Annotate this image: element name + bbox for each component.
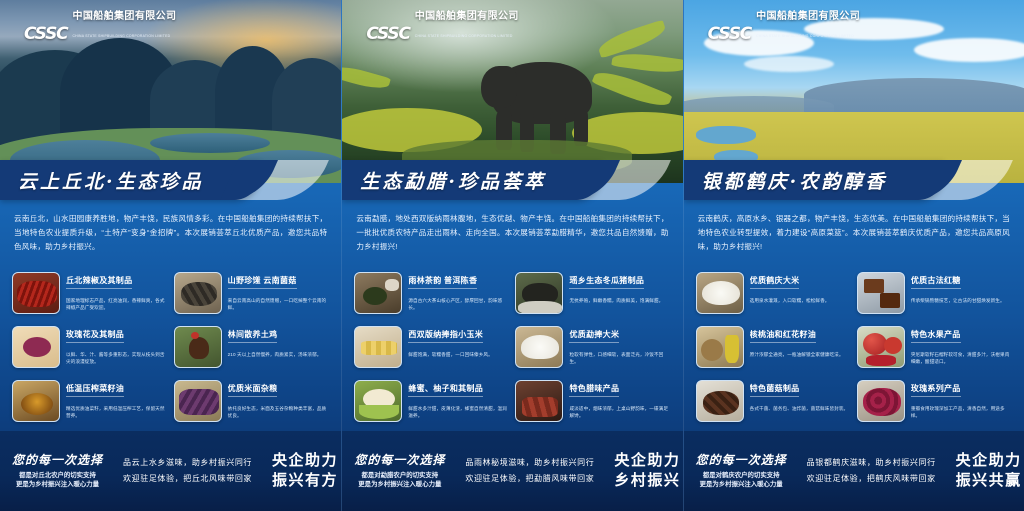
cssc-name-cn: 中国船舶集团有限公司 bbox=[415, 11, 519, 22]
product-card[interactable]: 玫瑰系列产品 重瓣食用玫瑰深加工产品，清香自然，用途多样。 bbox=[857, 380, 1012, 432]
product-card[interactable]: 林间散养土鸡 210 天以上自然慢养，肉质紧实，汤味浓郁。 bbox=[174, 326, 330, 378]
product-card[interactable]: 西双版纳捧指小玉米 鲜甜饱满，软糯香甜，一口回味傣乡风。 bbox=[354, 326, 509, 378]
walnut-oil-image bbox=[696, 326, 744, 368]
product-title: 优质勐捧大米 bbox=[569, 329, 619, 343]
cssc-name-cn: 中国船舶集团有限公司 bbox=[756, 11, 860, 22]
product-title: 瑶乡生态冬瓜猪制品 bbox=[569, 275, 644, 289]
product-desc: 鲜甜水多汁甜，皮薄化渣，蜂蜜自然清甜，温润滋养。 bbox=[408, 405, 509, 419]
product-card[interactable]: 核桃油和红花籽油 原汁浓郁全通亮，一瓶油解锁全家健康吃法。 bbox=[696, 326, 851, 378]
product-desc: 粒软有弹性，口感细软，表面泛光，冷饭不回生。 bbox=[569, 351, 670, 365]
heqing-rice-image bbox=[696, 272, 744, 314]
cssc-logo: CSSC 中国船舶集团有限公司 CHINA STATE SHIPBUILDING… bbox=[366, 6, 518, 42]
baby-corn-image bbox=[354, 326, 402, 368]
footer-message-line-2: 欢迎驻足体验，把勐腊风味带回家 bbox=[465, 471, 594, 487]
footer-sub-line-2: 更是为乡村振兴注入暖心力量 bbox=[358, 480, 441, 489]
product-card[interactable]: 特色水果产品 突尼斯软籽石榴籽软可食，清甜多汁，沃柑果肉细嫩，酸甜适口。 bbox=[857, 326, 1012, 378]
footer-headline-line-2: 振兴有方 bbox=[272, 471, 338, 491]
footer-headline-line-2: 乡村振兴 bbox=[614, 471, 680, 491]
footer-message-block: 品雨林秘境滋味，助乡村振兴同行 欢迎驻足体验，把勐腊风味带回家 bbox=[465, 455, 594, 487]
product-info: 瑶乡生态冬瓜猪制品 无抗养殖，鲜嫩香糯，肉质鲜美，饱满鲜甜。 bbox=[569, 272, 670, 304]
panel-intro-text: 云南鹤庆，高原水乡、银器之都，物产丰饶，生态优美。在中国船舶集团的持续帮扶下，当… bbox=[684, 206, 1024, 254]
rapeseed-oil-image bbox=[12, 380, 60, 422]
product-desc: 无抗养殖，鲜嫩香糯，肉质鲜美，饱满鲜甜。 bbox=[569, 297, 670, 304]
product-title: 玫瑰花及其制品 bbox=[66, 329, 124, 343]
footer-headline-block: 央企助力 乡村振兴 bbox=[614, 451, 680, 491]
panel-mengla: CSSC 中国船舶集团有限公司 CHINA STATE SHIPBUILDING… bbox=[341, 0, 682, 511]
footer-script-line: 您的每一次选择 bbox=[12, 453, 103, 468]
footer-headline-block: 央企助力 振兴有方 bbox=[272, 451, 338, 491]
product-title: 优质米面杂粮 bbox=[228, 383, 278, 397]
product-info: 西双版纳捧指小玉米 鲜甜饱满，软糯香甜，一口回味傣乡风。 bbox=[408, 326, 509, 358]
footer-script-line: 您的每一次选择 bbox=[354, 453, 445, 468]
footer-message-line-2: 欢迎驻足体验，把鹤庆风味带回家 bbox=[807, 471, 936, 487]
footer-headline-block: 央企助力 振兴共赢 bbox=[956, 451, 1022, 491]
footer-slogan-block: 您的每一次选择 都是对勐腊农户的切实支持 更是为乡村振兴注入暖心力量 bbox=[354, 453, 445, 489]
product-desc: 传承柴锅熬糖技艺，让古法的甘甜焕发新生。 bbox=[911, 297, 1012, 304]
wild-mushroom-image bbox=[174, 272, 222, 314]
product-info: 低温压榨菜籽油 精选优质油菜籽，采用低温压榨工艺，保留天然营养。 bbox=[66, 380, 168, 419]
product-info: 优质鹤庆大米 选用泉水灌溉，入口软糯，松松鲜香。 bbox=[750, 272, 851, 304]
cssc-logo-mark: CSSC bbox=[366, 27, 409, 42]
product-info: 玫瑰花及其制品 以鲜、华、汁、酱等多重形态，实现从枝头到舌尖的浪漫绽放。 bbox=[66, 326, 168, 365]
product-desc: 突尼斯软籽石榴籽软可食，清甜多汁，沃柑果肉细嫩，酸甜适口。 bbox=[911, 351, 1012, 365]
product-desc: 原汁浓郁全通亮，一瓶油解锁全家健康吃法。 bbox=[750, 351, 851, 358]
product-title: 蜂蜜、柚子和其制品 bbox=[408, 383, 483, 397]
product-title: 低温压榨菜籽油 bbox=[66, 383, 124, 397]
cssc-logo-text: 中国船舶集团有限公司 CHINA STATE SHIPBUILDING CORP… bbox=[415, 6, 519, 42]
product-card[interactable]: 雨林茶韵 普洱陈香 源自古六大茶山核心产区，醇厚回甘，韵味悠长。 bbox=[354, 272, 509, 324]
product-desc: 依托良好生态，米面及五谷杂粮种类丰富，品质优良。 bbox=[228, 405, 330, 419]
product-info: 特色水果产品 突尼斯软籽石榴籽软可食，清甜多汁，沃柑果肉细嫩，酸甜适口。 bbox=[911, 326, 1012, 365]
free-range-chicken-image bbox=[174, 326, 222, 368]
product-card[interactable]: 蜂蜜、柚子和其制品 鲜甜水多汁甜，皮薄化渣，蜂蜜自然清甜，温润滋养。 bbox=[354, 380, 509, 432]
product-info: 核桃油和红花籽油 原汁浓郁全通亮，一瓶油解锁全家健康吃法。 bbox=[750, 326, 851, 358]
poster-board: CSSC 中国船舶集团有限公司 CHINA STATE SHIPBUILDING… bbox=[0, 0, 1024, 511]
product-info: 山野珍馐 云南菌菇 来自云南高山的自然馈赠，一口吃掉整个云南的鲜。 bbox=[228, 272, 330, 311]
panel-footer: 您的每一次选择 都是对鹤庆农户的切实支持 更是为乡村振兴注入暖心力量 品银都鹤庆… bbox=[684, 431, 1024, 511]
product-info: 特色菌菇制品 各式干菌、菌务包、油炸菌，菌菇鲜味皆封装。 bbox=[750, 380, 851, 412]
product-info: 优质勐捧大米 粒软有弹性，口感细软，表面泛光，冷饭不回生。 bbox=[569, 326, 670, 365]
purple-corn-grain-image bbox=[174, 380, 222, 422]
footer-slogan-block: 您的每一次选择 都是对丘北农户的切实支持 更是为乡村振兴注入暖心力量 bbox=[12, 453, 103, 489]
hero-section: CSSC 中国船舶集团有限公司 CHINA STATE SHIPBUILDING… bbox=[0, 0, 341, 183]
product-card[interactable]: 优质米面杂粮 依托良好生态，米面及五谷杂粮种类丰富，品质优良。 bbox=[174, 380, 330, 432]
product-desc: 来自云南高山的自然馈赠，一口吃掉整个云南的鲜。 bbox=[228, 297, 330, 311]
cssc-logo-text: 中国船舶集团有限公司 CHINA STATE SHIPBUILDING CORP… bbox=[72, 6, 176, 42]
cured-meat-image bbox=[515, 380, 563, 422]
product-desc: 以鲜、华、汁、酱等多重形态，实现从枝头到舌尖的浪漫绽放。 bbox=[66, 351, 168, 365]
hero-section: CSSC 中国船舶集团有限公司 CHINA STATE SHIPBUILDING… bbox=[342, 0, 682, 183]
product-desc: 重瓣食用玫瑰深加工产品，清香自然，用途多样。 bbox=[911, 405, 1012, 419]
panel-heqing: CSSC 中国船舶集团有限公司 CHINA STATE SHIPBUILDING… bbox=[683, 0, 1024, 511]
product-card[interactable]: 低温压榨菜籽油 精选优质油菜籽，采用低温压榨工艺，保留天然营养。 bbox=[12, 380, 168, 432]
cssc-logo: CSSC 中国船舶集团有限公司 CHINA STATE SHIPBUILDING… bbox=[708, 6, 860, 42]
product-title: 优质古法红糖 bbox=[911, 275, 961, 289]
product-desc: 精选优质油菜籽，采用低温压榨工艺，保留天然营养。 bbox=[66, 405, 168, 419]
product-card[interactable]: 特色菌菇制品 各式干菌、菌务包、油炸菌，菌菇鲜味皆封装。 bbox=[696, 380, 851, 432]
panel-footer: 您的每一次选择 都是对丘北农户的切实支持 更是为乡村振兴注入暖心力量 品云上水乡… bbox=[0, 431, 341, 511]
footer-sub-line-1: 都是对丘北农户的切实支持 bbox=[19, 471, 96, 480]
panel-intro-text: 云南勐腊，地处西双版纳雨林腹地，生态优越、物产丰饶。在中国船舶集团的持续帮扶下，… bbox=[342, 206, 682, 254]
product-desc: 选用泉水灌溉，入口软糯，松松鲜香。 bbox=[750, 297, 851, 304]
footer-message-line-2: 欢迎驻足体验，把丘北风味带回家 bbox=[123, 471, 252, 487]
rose-pastry-image bbox=[12, 326, 60, 368]
product-info: 林间散养土鸡 210 天以上自然慢养，肉质紧实，汤味浓郁。 bbox=[228, 326, 330, 358]
cssc-name-cn: 中国船舶集团有限公司 bbox=[72, 11, 176, 22]
black-pig-image bbox=[515, 272, 563, 314]
product-title: 核桃油和红花籽油 bbox=[750, 329, 816, 343]
white-rice-image bbox=[515, 326, 563, 368]
product-desc: 源自古六大茶山核心产区，醇厚回甘，韵味悠长。 bbox=[408, 297, 509, 311]
mushroom-dish-image bbox=[696, 380, 744, 422]
cssc-logo-text: 中国船舶集团有限公司 CHINA STATE SHIPBUILDING CORP… bbox=[756, 6, 860, 42]
product-title: 山野珍馐 云南菌菇 bbox=[228, 275, 297, 289]
product-card[interactable]: 玫瑰花及其制品 以鲜、华、汁、酱等多重形态，实现从枝头到舌尖的浪漫绽放。 bbox=[12, 326, 168, 378]
footer-message-line-1: 品雨林秘境滋味，助乡村振兴同行 bbox=[465, 455, 594, 471]
cssc-name-en: CHINA STATE SHIPBUILDING CORPORATION LIM… bbox=[72, 34, 170, 38]
dried-chili-image bbox=[12, 272, 60, 314]
panel-title-ribbon: 云上丘北·生态珍品 bbox=[0, 160, 260, 200]
brown-sugar-image bbox=[857, 272, 905, 314]
product-info: 特色腊味产品 咸淡适中，烟味浓郁，上桌山野韵味，一碟满足解馋。 bbox=[569, 380, 670, 419]
product-title: 特色菌菇制品 bbox=[750, 383, 800, 397]
product-info: 优质米面杂粮 依托良好生态，米面及五谷杂粮种类丰富，品质优良。 bbox=[228, 380, 330, 419]
product-desc: 国家地理标志产品，红亮油润，香辣鲜爽，各式辣椒产品广受欢迎。 bbox=[66, 297, 168, 311]
footer-sub-line-1: 都是对鹤庆农户的切实支持 bbox=[703, 471, 780, 480]
footer-message-block: 品银都鹤庆滋味，助乡村振兴同行 欢迎驻足体验，把鹤庆风味带回家 bbox=[807, 455, 936, 487]
panel-title-ribbon: 银都鹤庆·农韵醇香 bbox=[684, 160, 944, 200]
footer-headline-line-1: 央企助力 bbox=[272, 451, 338, 471]
honey-pomelo-image bbox=[354, 380, 402, 422]
product-desc: 鲜甜饱满，软糯香甜，一口回味傣乡风。 bbox=[408, 351, 509, 358]
panel-intro-text: 云南丘北，山水田园康养胜地，物产丰饶，民族风情多彩。在中国船舶集团的持续帮扶下，… bbox=[0, 206, 341, 254]
panel-footer: 您的每一次选择 都是对勐腊农户的切实支持 更是为乡村振兴注入暖心力量 品雨林秘境… bbox=[342, 431, 682, 511]
footer-message-line-1: 品银都鹤庆滋味，助乡村振兴同行 bbox=[807, 455, 936, 471]
panel-title-ribbon: 生态勐腊·珍品荟萃 bbox=[342, 160, 602, 200]
cssc-name-en: CHINA STATE SHIPBUILDING CORPORATION LIM… bbox=[415, 34, 513, 38]
pomegranate-image bbox=[857, 326, 905, 368]
footer-message-block: 品云上水乡滋味，助乡村振兴同行 欢迎驻足体验，把丘北风味带回家 bbox=[123, 455, 252, 487]
product-title: 林间散养土鸡 bbox=[228, 329, 278, 343]
rose-dried-image bbox=[857, 380, 905, 422]
panel-title: 云上丘北·生态珍品 bbox=[18, 167, 204, 194]
cssc-logo-mark: CSSC bbox=[24, 27, 67, 42]
product-info: 优质古法红糖 传承柴锅熬糖技艺，让古法的甘甜焕发新生。 bbox=[911, 272, 1012, 304]
product-card[interactable]: 特色腊味产品 咸淡适中，烟味浓郁，上桌山野韵味，一碟满足解馋。 bbox=[515, 380, 670, 432]
footer-message-line-1: 品云上水乡滋味，助乡村振兴同行 bbox=[123, 455, 252, 471]
product-card[interactable]: 瑶乡生态冬瓜猪制品 无抗养殖，鲜嫩香糯，肉质鲜美，饱满鲜甜。 bbox=[515, 272, 670, 324]
product-desc: 咸淡适中，烟味浓郁，上桌山野韵味，一碟满足解馋。 bbox=[569, 405, 670, 419]
panel-qiubei: CSSC 中国船舶集团有限公司 CHINA STATE SHIPBUILDING… bbox=[0, 0, 341, 511]
product-grid: 雨林茶韵 普洱陈香 源自古六大茶山核心产区，醇厚回甘，韵味悠长。 瑶乡生态冬瓜猪… bbox=[342, 272, 682, 432]
product-title: 雨林茶韵 普洱陈香 bbox=[408, 275, 477, 289]
footer-sub-line-2: 更是为乡村振兴注入暖心力量 bbox=[16, 480, 99, 489]
product-title: 玫瑰系列产品 bbox=[911, 383, 961, 397]
product-card[interactable]: 山野珍馐 云南菌菇 来自云南高山的自然馈赠，一口吃掉整个云南的鲜。 bbox=[174, 272, 330, 324]
product-info: 玫瑰系列产品 重瓣食用玫瑰深加工产品，清香自然，用途多样。 bbox=[911, 380, 1012, 419]
product-info: 雨林茶韵 普洱陈香 源自古六大茶山核心产区，醇厚回甘，韵味悠长。 bbox=[408, 272, 509, 311]
product-title: 特色水果产品 bbox=[911, 329, 961, 343]
product-card[interactable]: 优质勐捧大米 粒软有弹性，口感细软，表面泛光，冷饭不回生。 bbox=[515, 326, 670, 378]
product-grid: 优质鹤庆大米 选用泉水灌溉，入口软糯，松松鲜香。 优质古法红糖 传承柴锅熬糖技艺… bbox=[684, 272, 1024, 432]
footer-slogan-block: 您的每一次选择 都是对鹤庆农户的切实支持 更是为乡村振兴注入暖心力量 bbox=[696, 453, 787, 489]
product-card[interactable]: 丘北辣椒及其制品 国家地理标志产品，红亮油润，香辣鲜爽，各式辣椒产品广受欢迎。 bbox=[12, 272, 168, 324]
product-card[interactable]: 优质鹤庆大米 选用泉水灌溉，入口软糯，松松鲜香。 bbox=[696, 272, 851, 324]
product-info: 蜂蜜、柚子和其制品 鲜甜水多汁甜，皮薄化渣，蜂蜜自然清甜，温润滋养。 bbox=[408, 380, 509, 419]
product-info: 丘北辣椒及其制品 国家地理标志产品，红亮油润，香辣鲜爽，各式辣椒产品广受欢迎。 bbox=[66, 272, 168, 311]
panel-title: 银都鹤庆·农韵醇香 bbox=[702, 167, 888, 194]
product-card[interactable]: 优质古法红糖 传承柴锅熬糖技艺，让古法的甘甜焕发新生。 bbox=[857, 272, 1012, 324]
product-title: 优质鹤庆大米 bbox=[750, 275, 800, 289]
product-desc: 各式干菌、菌务包、油炸菌，菌菇鲜味皆封装。 bbox=[750, 405, 851, 412]
product-title: 特色腊味产品 bbox=[569, 383, 619, 397]
footer-script-line: 您的每一次选择 bbox=[696, 453, 787, 468]
cssc-logo-mark: CSSC bbox=[708, 27, 751, 42]
product-desc: 210 天以上自然慢养，肉质紧实，汤味浓郁。 bbox=[228, 351, 330, 358]
cssc-name-en: CHINA STATE SHIPBUILDING CORPORATION LIM… bbox=[756, 34, 854, 38]
footer-headline-line-1: 央企助力 bbox=[956, 451, 1022, 471]
cssc-logo: CSSC 中国船舶集团有限公司 CHINA STATE SHIPBUILDING… bbox=[24, 6, 176, 42]
product-title: 西双版纳捧指小玉米 bbox=[408, 329, 483, 343]
footer-headline-line-2: 振兴共赢 bbox=[956, 471, 1022, 491]
footer-sub-line-1: 都是对勐腊农户的切实支持 bbox=[361, 471, 438, 480]
panel-title: 生态勐腊·珍品荟萃 bbox=[360, 167, 546, 194]
puer-tea-image bbox=[354, 272, 402, 314]
footer-headline-line-1: 央企助力 bbox=[614, 451, 680, 471]
product-title: 丘北辣椒及其制品 bbox=[66, 275, 132, 289]
product-grid: 丘北辣椒及其制品 国家地理标志产品，红亮油润，香辣鲜爽，各式辣椒产品广受欢迎。 … bbox=[0, 272, 341, 432]
footer-sub-line-2: 更是为乡村振兴注入暖心力量 bbox=[700, 480, 783, 489]
hero-section: CSSC 中国船舶集团有限公司 CHINA STATE SHIPBUILDING… bbox=[684, 0, 1024, 183]
